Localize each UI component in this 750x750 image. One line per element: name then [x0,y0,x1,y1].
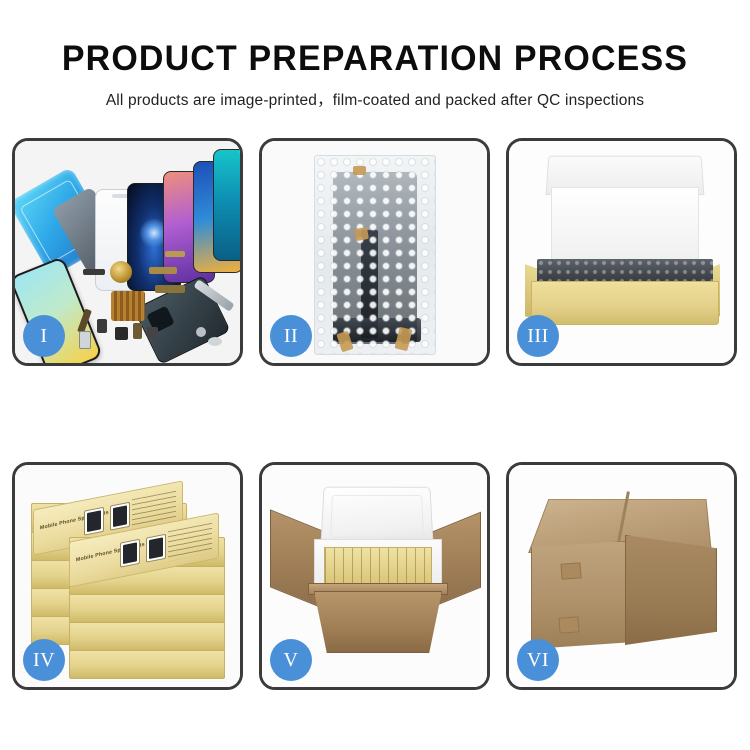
box-artwork-phone-icon [146,534,166,563]
step-badge-2: II [270,315,312,357]
step-badge-3: III [517,315,559,357]
box-artwork-phone-icon [84,507,104,536]
carton-front-panel-image [314,591,442,653]
foam-sheet-image [551,187,699,261]
process-step-panel-1[interactable]: I [12,138,243,366]
page-subtitle: All products are image-printed，film-coat… [0,88,750,110]
speaker-module-image [110,261,132,283]
spare-part-icon [147,327,158,338]
spare-part-icon [83,269,105,275]
tape-strip-icon [354,227,369,241]
carton-right-face-image [625,535,717,645]
process-step-panel-6[interactable]: VI [506,462,737,690]
spare-part-icon [133,323,142,339]
foam-lid-image [320,487,433,547]
box-artwork-phone-icon [110,502,130,531]
carton-tape-patch-icon [560,562,581,579]
spare-part-icon [196,327,206,337]
tape-strip-icon [353,166,366,175]
product-preparation-page: PRODUCT PREPARATION PROCESS All products… [0,0,750,750]
spare-part-icon [97,319,107,333]
step-badge-4: IV [23,639,65,681]
step-badge-5: V [270,639,312,681]
phone-teal-screen-image [213,149,243,261]
spare-part-icon [165,251,185,257]
box-front-panel-image [531,281,719,325]
packed-yellow-boxes-image [324,547,432,587]
bubble-wrap-bag-image [314,155,436,355]
spare-part-icon [155,285,185,293]
step-badge-6: VI [517,639,559,681]
box-artwork-phone-icon [120,539,140,568]
process-step-panel-5[interactable]: V [259,462,490,690]
carton-tape-patch-icon [558,616,579,633]
spare-part-icon [149,267,177,274]
process-step-panel-2[interactable]: II [259,138,490,366]
spare-part-icon [115,327,128,340]
spare-part-icon [79,331,91,349]
process-step-panel-3[interactable]: III [506,138,737,366]
page-header: PRODUCT PREPARATION PROCESS All products… [0,38,750,110]
circuit-board-image [111,291,145,321]
step-badge-1: I [23,315,65,357]
box-spec-lines [168,523,212,562]
carton-left-face-image [531,541,627,649]
spare-part-icon [208,337,222,346]
page-title: PRODUCT PREPARATION PROCESS [11,38,739,80]
process-step-panel-4[interactable]: Mobile Phone Spare Parts Mobile Phone Sp… [12,462,243,690]
bubble-texture-overlay [315,156,435,354]
box-stack-image: Mobile Phone Spare Parts Mobile Phone Sp… [25,491,237,669]
process-step-grid: I II [12,138,738,690]
